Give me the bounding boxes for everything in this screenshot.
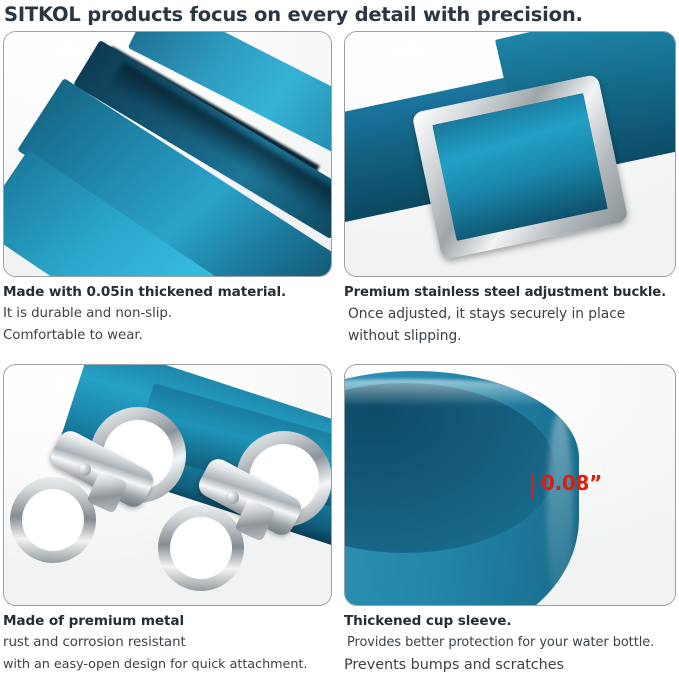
- dimension-bracket-icon: [531, 473, 534, 499]
- caption-thickened-material: Made with 0.05in thickened material. It …: [3, 277, 332, 347]
- caption-headline: Premium stainless steel adjustment buckl…: [344, 282, 676, 303]
- feature-block-thickened-cup-sleeve: 0.08” Thickened cup sleeve. Provides bet…: [344, 364, 676, 676]
- photo-panel-premium-metal-hooks: [3, 364, 332, 606]
- caption-line-2: Comfortable to wear.: [3, 325, 332, 347]
- caption-line-1: Once adjusted, it stays securely in plac…: [344, 303, 676, 325]
- photo-panel-adjustment-buckle: [344, 31, 676, 277]
- caption-headline: Thickened cup sleeve.: [344, 611, 676, 632]
- product-infographic: SITKOL products focus on every detail wi…: [0, 0, 679, 680]
- dimension-callout-label: 0.08”: [541, 469, 602, 497]
- caption-headline: Made of premium metal: [3, 611, 332, 632]
- page-title: SITKOL products focus on every detail wi…: [4, 1, 674, 28]
- feature-block-thickened-material: Made with 0.05in thickened material. It …: [3, 31, 332, 347]
- photo-panel-thickened-cup-sleeve: 0.08”: [344, 364, 676, 606]
- buckle-inner-strap: [432, 93, 607, 240]
- caption-line-1: It is durable and non-slip.: [3, 303, 332, 325]
- feature-block-premium-metal-hooks: Made of premium metal rust and corrosion…: [3, 364, 332, 676]
- caption-line-1: rust and corrosion resistant: [3, 632, 332, 654]
- caption-line-2: without slipping.: [344, 325, 676, 347]
- photo-panel-thickened-material: [3, 31, 332, 277]
- caption-line-2: Prevents bumps and scratches: [344, 654, 676, 676]
- snap-hook-rivet: [226, 491, 239, 504]
- caption-line-1: Provides better protection for your wate…: [344, 632, 676, 654]
- buckle-opening: [432, 93, 607, 240]
- snap-hook-rivet: [78, 463, 91, 476]
- caption-line-2: with an easy-open design for quick attac…: [3, 654, 332, 676]
- caption-thickened-cup-sleeve: Thickened cup sleeve. Provides better pr…: [344, 606, 676, 676]
- caption-adjustment-buckle: Premium stainless steel adjustment buckl…: [344, 277, 676, 347]
- feature-block-adjustment-buckle: Premium stainless steel adjustment buckl…: [344, 31, 676, 347]
- caption-premium-metal-hooks: Made of premium metal rust and corrosion…: [3, 606, 332, 676]
- cup-sleeve-side-highlight: [547, 411, 573, 606]
- caption-headline: Made with 0.05in thickened material.: [3, 282, 332, 303]
